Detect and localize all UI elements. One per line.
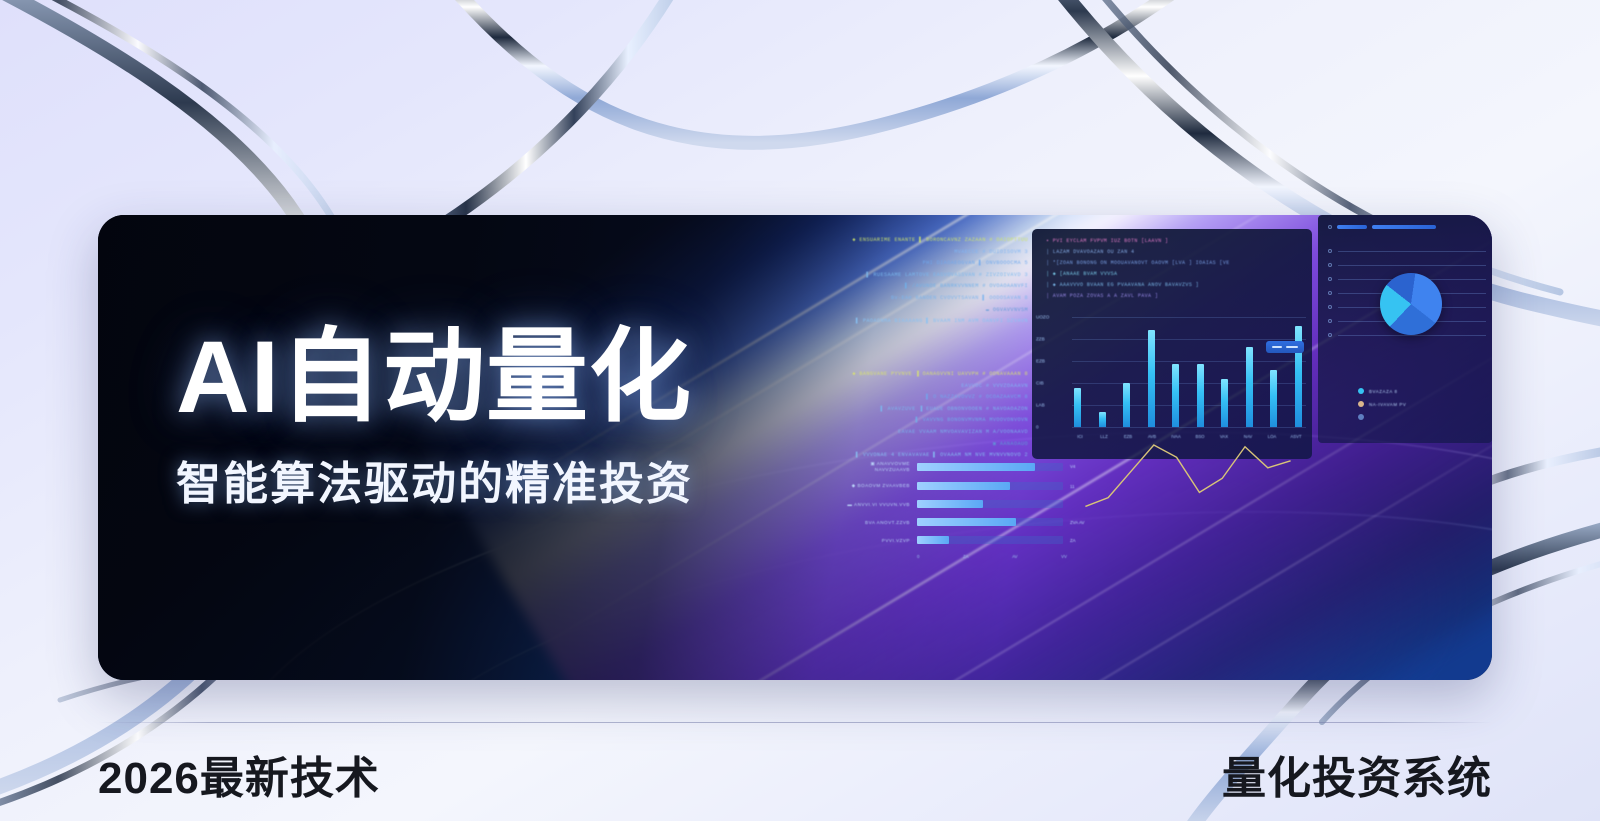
x-tick-label: LLZ bbox=[1098, 434, 1110, 439]
y-tick-label: 0 bbox=[1036, 425, 1039, 430]
code-line: │ *[ZOAN BONONG ON MOOUAVANOVT OAOVM [LV… bbox=[1046, 260, 1304, 266]
x-tick-label: VV bbox=[1061, 554, 1067, 559]
hbar-fill bbox=[917, 463, 1035, 471]
hbar-value: 11 bbox=[1070, 484, 1086, 489]
header-pill bbox=[1372, 225, 1436, 228]
y-tick-label: ZZB bbox=[1036, 337, 1045, 342]
hbar-track bbox=[917, 500, 1063, 508]
code-line: ◆ ENSUARIME ENANTE ▌ BORONCAVNZ ZAZAAN #… bbox=[838, 237, 1028, 243]
hbar-value: ZA bbox=[1070, 538, 1086, 543]
hero-banner-card: ◆ ENSUARIME ENANTE ▌ BORONCAVNZ ZAZAAN #… bbox=[98, 215, 1492, 680]
code-line: ▌ VAVVNG BONONVMVNMA MVOOVONVOVN bbox=[838, 417, 1028, 423]
analytics-panel: ▪ PVI EYCLAM FVPVM IUZ BOTN [LAAVN ] │ L… bbox=[1032, 229, 1312, 459]
legend-color-dot bbox=[1358, 401, 1364, 407]
code-line: ▌ RUESAAME LAMTOVE EASVOVASSVAN # ZIVZOI… bbox=[838, 272, 1028, 278]
code-line: ▣ AANAOAUO bbox=[838, 441, 1028, 447]
circle-icon bbox=[1328, 291, 1332, 295]
x-tick-label: 0 bbox=[917, 554, 919, 559]
x-tick-label: NAV bbox=[1242, 434, 1254, 439]
list-item bbox=[1328, 249, 1486, 253]
x-tick-label: VAX bbox=[1218, 434, 1230, 439]
header-pill bbox=[1337, 225, 1367, 228]
footer-divider bbox=[98, 722, 1492, 723]
hbar-label: PVVI.VZVP bbox=[836, 538, 910, 543]
hbar-fill bbox=[917, 536, 949, 544]
code-line: MVAECCE # DUIOISOVM 3 bbox=[838, 249, 1028, 255]
hbar-label: ▣ ANAVVOVME NAVVZUAAVB bbox=[836, 461, 910, 472]
x-tick-label: BSO bbox=[1194, 434, 1206, 439]
hbar-label: ◆ BOAOVM ZVAAVBEB bbox=[836, 483, 910, 489]
x-tick-label: LOA bbox=[1266, 434, 1278, 439]
code-line: ▌ PAOAONMA BIAAAANG ▌ BVAAM INM AVM OANV… bbox=[838, 318, 1028, 324]
code-line: Bv-EAe BANOEN CVOVVTSAVAN ▌ OODOSAVAN 8 bbox=[838, 295, 1028, 301]
legend-label: BVAZAZA 8 bbox=[1369, 389, 1398, 394]
page-title: AI自动量化 bbox=[176, 325, 693, 429]
code-line: EAVAE VVAAM NMVOAVAVIZAN M A/VOONAAVD bbox=[838, 429, 1028, 435]
code-line: ▌ VVVONAE 4 ENVAVAVAE ▌ OVAAAM NM NVE MV… bbox=[838, 452, 1028, 458]
x-tick-label: AV bbox=[1012, 554, 1018, 559]
legend-item bbox=[1358, 414, 1406, 420]
y-tick-label: EZB bbox=[1036, 359, 1045, 364]
code-line: EAVVOC # VVVZOAAAVN bbox=[838, 383, 1028, 389]
hbar-row: BVA ANOVT.ZZVBZVA AV bbox=[836, 518, 1086, 526]
hbar-row: PVVI.VZVPZA bbox=[836, 536, 1086, 544]
footer-label-left: 2026最新技术 bbox=[98, 742, 380, 806]
page-subtitle: 智能算法驱动的精准投资 bbox=[176, 447, 693, 512]
legend-color-dot bbox=[1358, 414, 1364, 420]
code-line: ▪ PVI EYCLAM FVPVM IUZ BOTN [LAAVN ] bbox=[1046, 238, 1304, 244]
legend-item: BVAZAZA 8 bbox=[1358, 388, 1406, 394]
x-tick-label: ICI bbox=[1074, 434, 1086, 439]
code-line: │ AVAM POZA ZOVAS A A ZAVL PAVA ] bbox=[1046, 293, 1304, 299]
hbar-label: BVA ANOVT.ZZVB bbox=[836, 520, 910, 525]
footer-label-right: 量化投资系统 bbox=[1222, 742, 1492, 806]
circle-icon bbox=[1328, 319, 1332, 323]
list-item bbox=[1328, 263, 1486, 267]
code-line: ▌ /AVUNOE BANRKVVNNEM # OVOAOAANVFI bbox=[838, 283, 1028, 289]
hbar-fill bbox=[917, 500, 983, 508]
x-tick-label: ASVT bbox=[1290, 434, 1302, 439]
pie-legend: BVAZAZA 8 NA-IVAVAM PV bbox=[1358, 388, 1406, 427]
hbar-fill bbox=[917, 482, 1010, 490]
panel-code-block: ▪ PVI EYCLAM FVPVM IUZ BOTN [LAAVN ] │ L… bbox=[1046, 238, 1304, 304]
circle-icon bbox=[1328, 263, 1332, 267]
legend-label: NA-IVAVAM PV bbox=[1369, 402, 1406, 407]
hbar-track bbox=[917, 463, 1063, 471]
hbar-track bbox=[917, 482, 1063, 490]
code-line: │ ◆ [ANAAE BVAM VVVSA bbox=[1046, 271, 1304, 277]
hbar-row: ▣ ANAVVOVME NAVVZUAAVBV4 bbox=[836, 461, 1086, 472]
code-line: │ ◆ AAAVVVO BVAAN EG PVAAVANA ANOV BAVAV… bbox=[1046, 282, 1304, 288]
x-tick-label: ZA bbox=[963, 554, 969, 559]
hbar-fill bbox=[917, 518, 1016, 526]
hbar-value: ZVA AV bbox=[1070, 520, 1086, 525]
legend-item: NA-IVAVAM PV bbox=[1358, 401, 1406, 407]
horizontal-bar-chart: ▣ ANAVVOVME NAVVZUAAVBV4◆ BOAOVM ZVAAVBE… bbox=[836, 461, 1086, 559]
code-line: ▌ O NAZZAVOVVZ # OCOAZAAVCM 8 bbox=[838, 394, 1028, 400]
y-tick-label: UOZO bbox=[1036, 315, 1049, 320]
y-tick-label: LAB bbox=[1036, 403, 1045, 408]
hbar-value: V4 bbox=[1070, 464, 1086, 469]
bar-chart: 0LABCIBEZBZZBUOZO ICILLZEZBAVBIVAABSOVAX… bbox=[1058, 313, 1306, 439]
hbar-row: ◆ BOAOVM ZVAAVBEB11 bbox=[836, 482, 1086, 490]
circle-icon bbox=[1328, 277, 1332, 281]
y-tick-label: CIB bbox=[1036, 381, 1044, 386]
code-column-left-2: ◆ BANGVANE PYVNVE ▐ OANAGVVNI UAVVPH # O… bbox=[838, 371, 1028, 464]
pie-chart bbox=[1380, 273, 1442, 335]
x-tick-label: AVB bbox=[1146, 434, 1158, 439]
panel-header bbox=[1328, 225, 1484, 229]
hbar-track bbox=[917, 536, 1063, 544]
x-tick-label: EZB bbox=[1122, 434, 1134, 439]
circle-icon bbox=[1328, 225, 1332, 229]
circle-icon bbox=[1328, 249, 1332, 253]
code-line: ▬ OGVAVVNVSM bbox=[838, 307, 1028, 313]
code-column-left: ◆ ENSUARIME ENANTE ▌ BORONCAVNZ ZAZAAN #… bbox=[838, 237, 1028, 330]
code-line: │ LAZAM DVAVOAZAN OU ZAN 4 bbox=[1046, 249, 1304, 255]
hbar-row: ▬ ANVVI.VI VVUVN.VVB bbox=[836, 500, 1086, 508]
x-tick-label: IVAA bbox=[1170, 434, 1182, 439]
hero-text-block: AI自动量化 智能算法驱动的精准投资 bbox=[176, 325, 693, 512]
hbar-label: ▬ ANVVI.VI VVUVN.VVB bbox=[836, 502, 910, 507]
legend-color-dot bbox=[1358, 388, 1364, 394]
code-line: ▌ AVAVZUVE ▐ EUAUE OBNONVOOEN # NAVOAOAZ… bbox=[838, 406, 1028, 412]
hbar-axis: 0ZAAVVV bbox=[917, 554, 1067, 559]
hbar-track bbox=[917, 518, 1063, 526]
circle-icon bbox=[1328, 305, 1332, 309]
code-line: PHI DIAOAEOGVAN ▌ ONVBOOOCMA 5 bbox=[838, 260, 1028, 266]
code-line: ◆ BANGVANE PYVNVE ▐ OANAGVVNI UAVVPH # O… bbox=[838, 371, 1028, 377]
chart-x-axis-labels: ICILLZEZBAVBIVAABSOVAXNAVLOAASVT bbox=[1074, 434, 1302, 439]
circle-icon bbox=[1328, 333, 1332, 337]
dashboard-graphics: ◆ ENSUARIME ENANTE ▌ BORONCAVNZ ZAZAAN #… bbox=[818, 215, 1492, 680]
chart-tooltip-badge[interactable] bbox=[1266, 341, 1304, 353]
distribution-panel: BVAZAZA 8 NA-IVAVAM PV bbox=[1318, 215, 1492, 443]
